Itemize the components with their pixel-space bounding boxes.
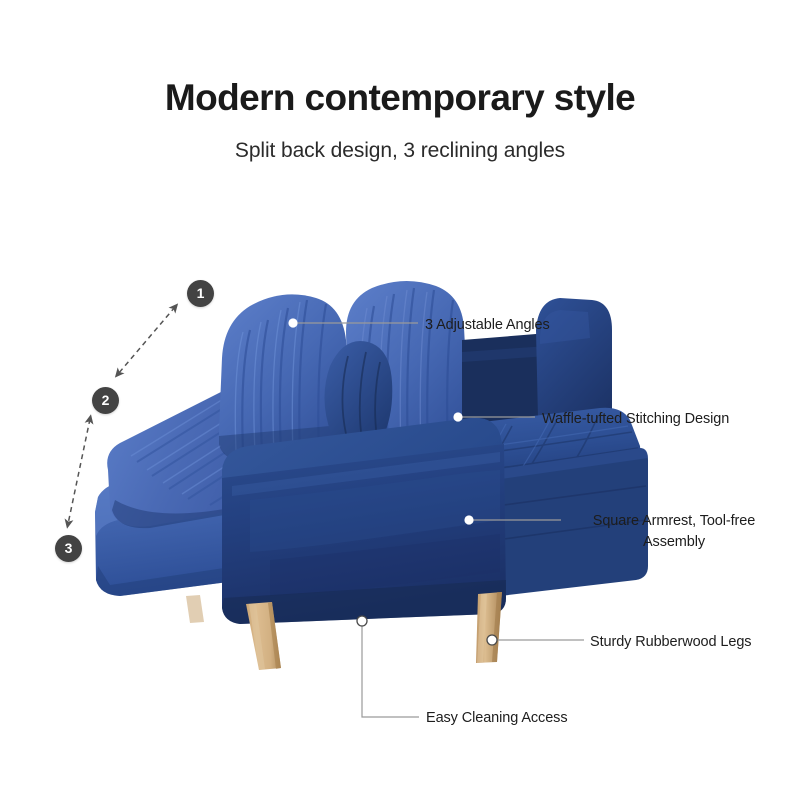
callout-label-rubberwood-legs: Sturdy Rubberwood Legs [590,632,751,653]
recline-step-badge-2: 2 [92,387,119,414]
sofa-square-armrest [222,418,506,624]
callout-label-waffle-tufted: Waffle-tufted Stitching Design [542,409,729,430]
callout-line-2: Assembly [643,534,705,550]
sofa-illustration [0,0,800,800]
callout-line-1: Square Armrest, Tool-free [593,513,755,529]
product-illustration-stage: 3 Adjustable Angles Waffle-tufted Stitch… [0,0,800,800]
callout-label-adjustable-angles: 3 Adjustable Angles [425,315,550,336]
callout-label-square-armrest: Square Armrest, Tool-free Assembly [566,511,782,553]
recline-step-badge-3: 3 [55,535,82,562]
sofa-hidden-leg-shadow [186,595,204,623]
infographic-page: Modern contemporary style Split back des… [0,0,800,800]
recline-step-badge-1: 1 [187,280,214,307]
sofa-rear-leg [476,592,502,663]
callout-label-easy-cleaning: Easy Cleaning Access [426,708,567,729]
